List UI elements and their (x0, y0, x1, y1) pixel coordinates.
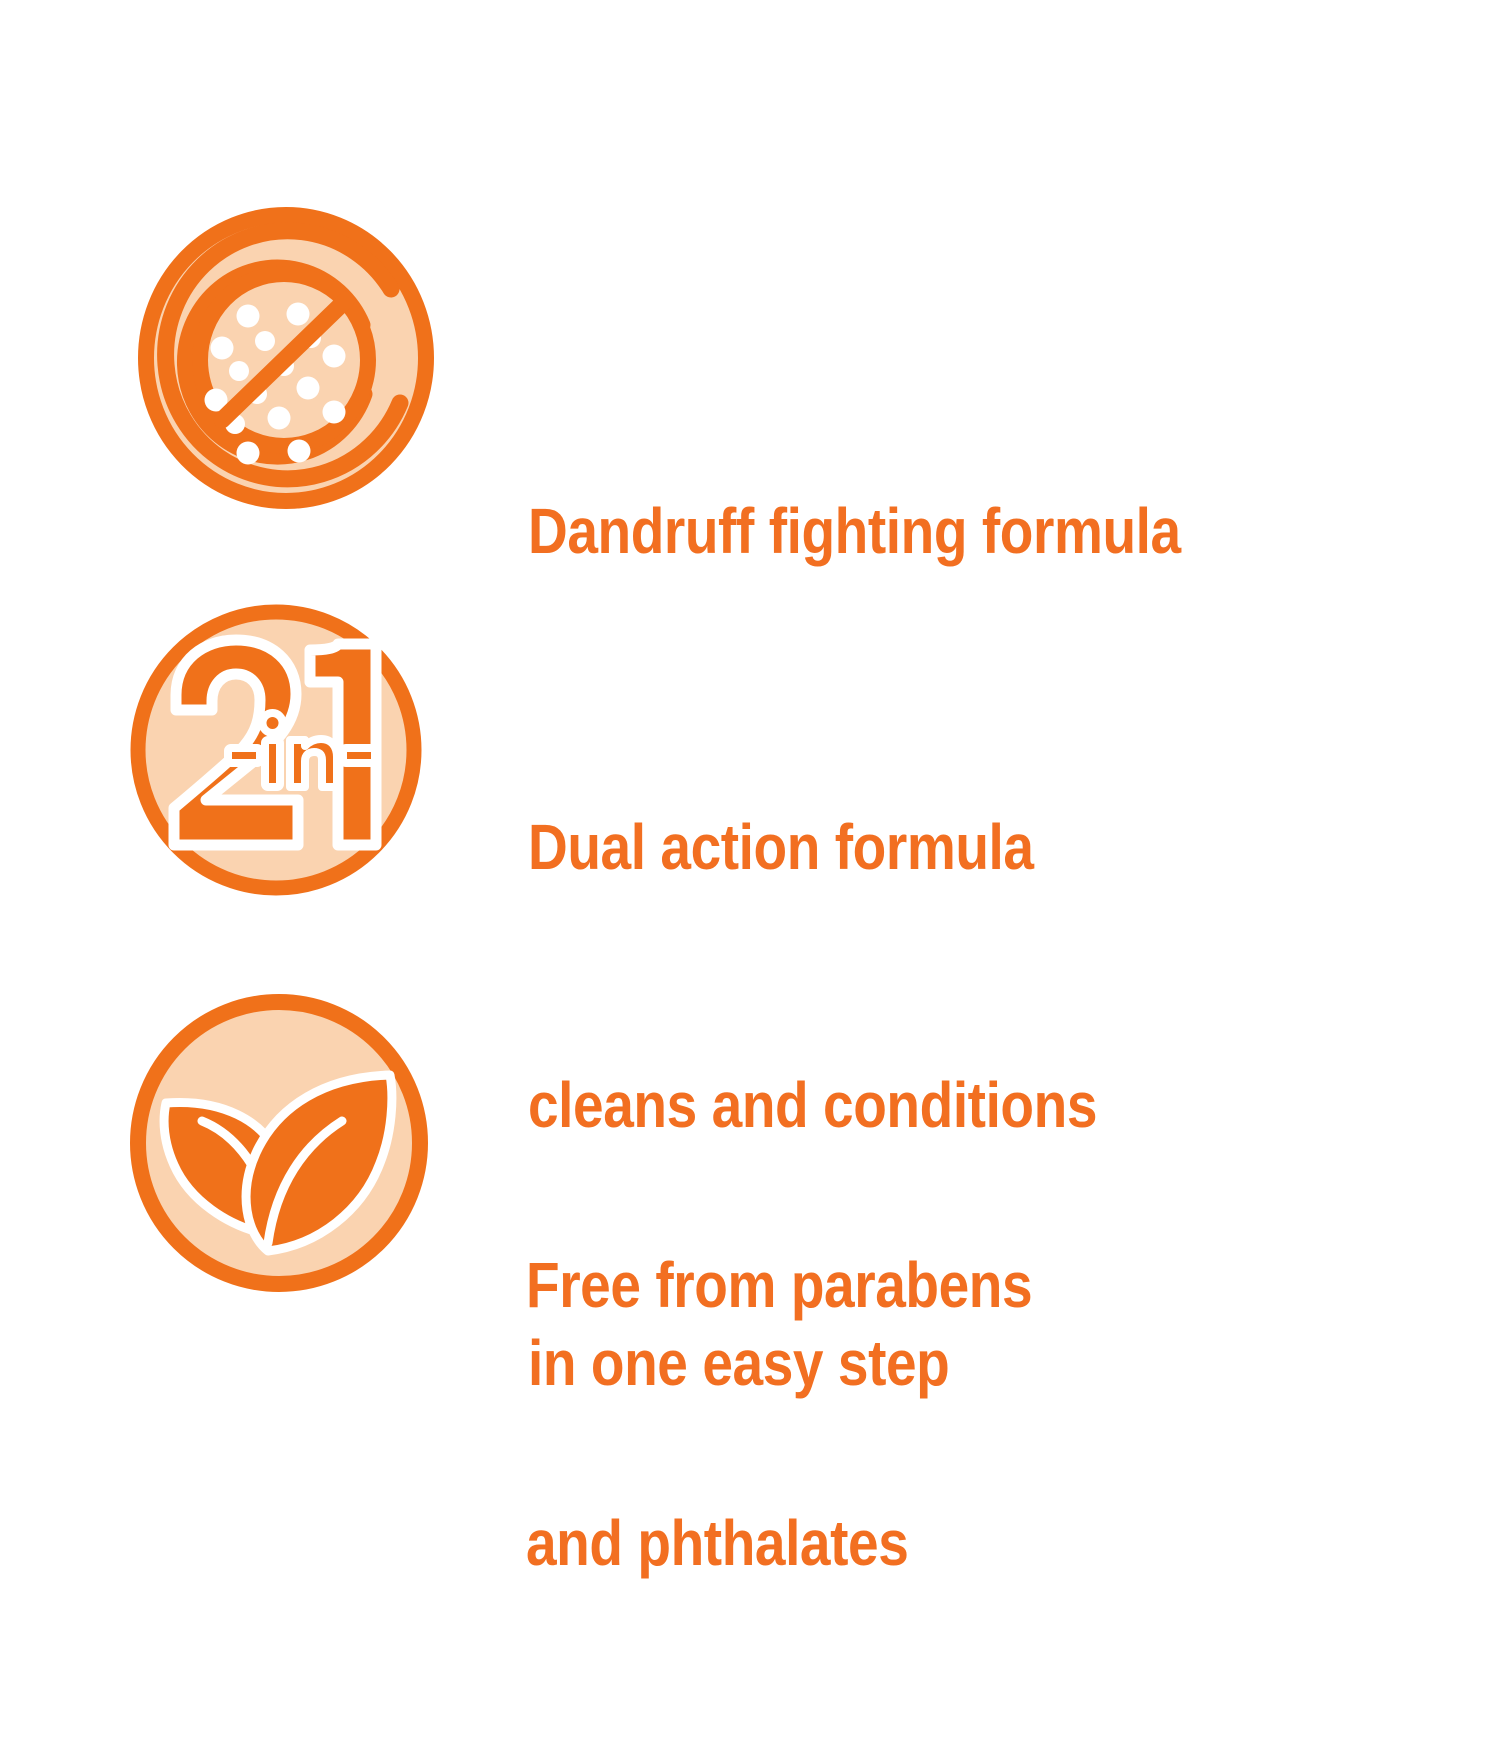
feature-line: Dandruff fighting formula (528, 488, 1181, 574)
no-dandruff-icon (138, 208, 434, 508)
feature-line: Dual action formula (528, 804, 1097, 890)
benefits-panel: Dandruff fighting formula (0, 0, 1500, 1500)
leaves-icon (128, 993, 430, 1293)
feature-text-paraben-free: Free from parabens and phthalates (526, 1070, 1032, 1758)
feature-line: Free from parabens (526, 1242, 1032, 1328)
two-in-one-icon (130, 600, 422, 900)
feature-line: and phthalates (526, 1500, 1032, 1586)
